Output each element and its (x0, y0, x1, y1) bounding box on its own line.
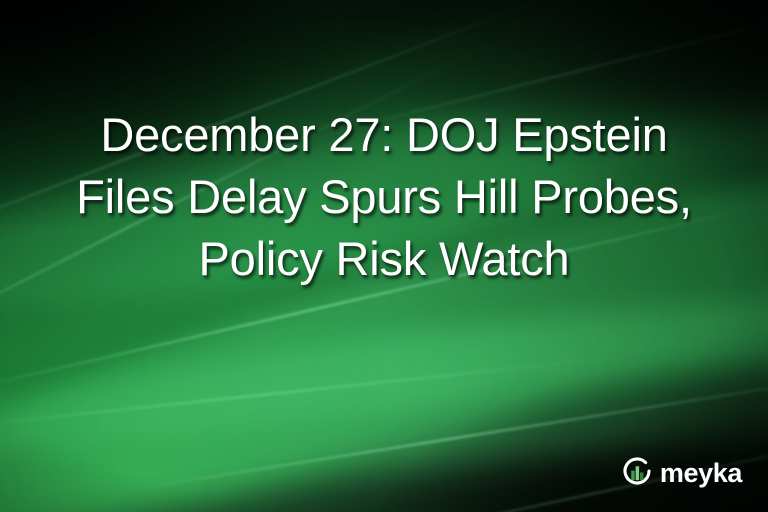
circle-bar-chart-icon (620, 456, 654, 490)
wave-shadow-2 (0, 391, 768, 512)
headline-title: December 27: DOJ Epstein Files Delay Spu… (0, 104, 768, 290)
light-streak-7 (0, 359, 598, 428)
social-share-card: December 27: DOJ Epstein Files Delay Spu… (0, 0, 768, 512)
brand-logo[interactable]: meyka (620, 456, 742, 490)
brand-name: meyka (660, 460, 742, 487)
